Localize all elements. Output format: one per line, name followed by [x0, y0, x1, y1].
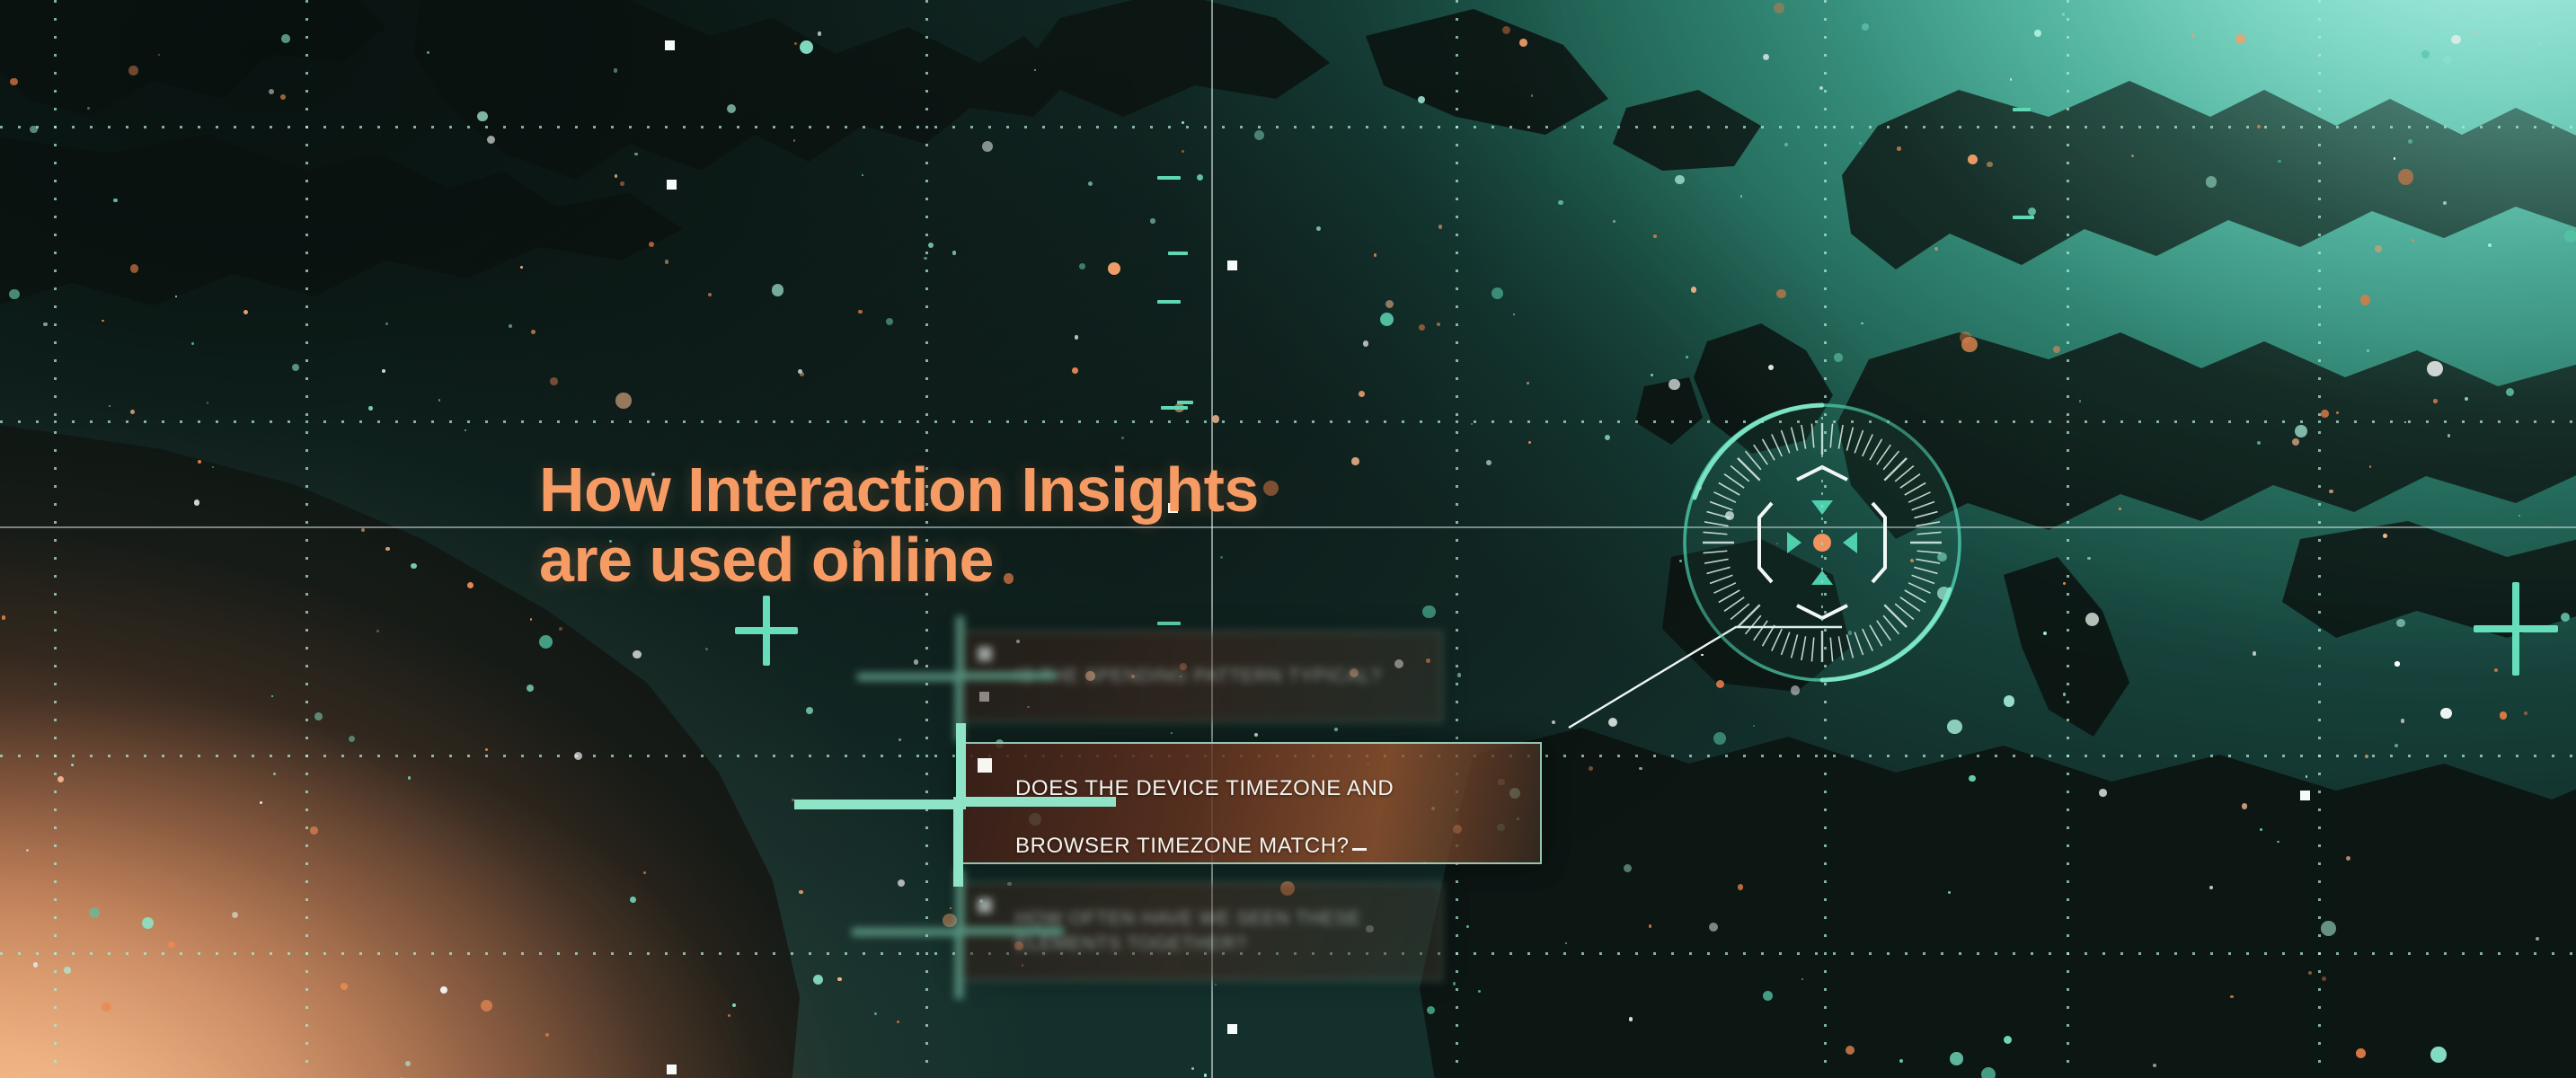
scatter-dot	[1819, 86, 1823, 90]
scatter-dot	[30, 126, 37, 133]
grid-node-square	[667, 180, 677, 190]
scatter-dot	[2408, 139, 2412, 144]
scatter-dot	[2063, 582, 2065, 584]
scatter-dot	[1784, 143, 1788, 146]
scatter-dot	[273, 773, 276, 775]
scatter-dot	[886, 318, 893, 325]
scatter-dot	[1191, 1067, 1194, 1070]
scatter-dot	[1552, 720, 1555, 724]
grid-node-square	[665, 40, 675, 50]
scatter-dot	[2278, 160, 2281, 163]
scatter-dot	[2396, 619, 2405, 628]
scatter-dot	[1653, 234, 1657, 238]
scatter-dot	[1987, 162, 1993, 168]
scatter-dot	[102, 1003, 111, 1012]
scatter-dot	[943, 914, 956, 927]
scatter-dot	[408, 776, 411, 779]
scatter-dot	[1675, 175, 1684, 184]
grid-node-square	[1227, 261, 1237, 270]
scatter-dot	[1709, 923, 1718, 932]
scatter-dot	[87, 107, 90, 110]
crosshair-marker-left	[735, 596, 798, 666]
grid-tick-dash	[2013, 216, 2034, 219]
scatter-dot	[1385, 300, 1394, 308]
scatter-dot	[520, 266, 523, 269]
scatter-dot	[1171, 732, 1173, 734]
scatter-dot	[1531, 94, 1534, 97]
scatter-dot	[1774, 3, 1784, 13]
scatter-dot	[1513, 314, 1516, 316]
scatter-dot	[1968, 155, 1978, 164]
scatter-dot	[1580, 125, 1582, 127]
scatter-dot	[477, 111, 488, 122]
grid-tick-dash	[1168, 252, 1188, 255]
scatter-dot	[615, 393, 632, 409]
scatter-dot	[2375, 245, 2382, 252]
scatter-dot	[2443, 201, 2447, 205]
scatter-dot	[1608, 718, 1617, 727]
scatter-dot	[2010, 78, 2013, 81]
radar-scope[interactable]	[1669, 390, 1975, 695]
scatter-dot	[874, 1012, 877, 1015]
scatter-dot	[2191, 34, 2194, 37]
scatter-dot	[1899, 1059, 1903, 1063]
scatter-dot	[1380, 313, 1394, 326]
scatter-dot	[727, 104, 736, 113]
scatter-dot	[440, 986, 447, 994]
scatter-dot	[1649, 924, 1652, 928]
scatter-dot	[2412, 239, 2414, 242]
scatter-dot	[1427, 1006, 1436, 1015]
page-title: How Interaction Insights are used online	[539, 455, 1259, 596]
scatter-dot	[858, 310, 862, 314]
scatter-dot	[2329, 490, 2333, 494]
scatter-dot	[2443, 56, 2452, 65]
scatter-dot	[2306, 775, 2307, 777]
scatter-dot	[194, 499, 199, 505]
scatter-dot	[630, 897, 636, 903]
scatter-dot	[2277, 841, 2279, 844]
scatter-dot	[708, 293, 712, 296]
scatter-dot	[314, 712, 323, 720]
scatter-dot	[9, 289, 19, 299]
scatter-dot	[2079, 400, 2082, 402]
scatter-dot	[487, 136, 495, 144]
scatter-dot	[1801, 978, 1804, 981]
scatter-dot	[2260, 828, 2263, 832]
scatter-dot	[800, 40, 813, 54]
scatter-dot	[1457, 673, 1462, 677]
scatter-dot	[2206, 176, 2217, 188]
scatter-dot	[794, 42, 797, 45]
scatter-dot	[310, 826, 318, 835]
scatter-dot	[1351, 457, 1359, 465]
scatter-dot	[772, 284, 784, 296]
scatter-dot	[545, 1033, 549, 1037]
scatter-dot	[405, 1061, 411, 1066]
scatter-dot	[2292, 438, 2300, 446]
scatter-dot	[109, 405, 111, 407]
scatter-dot	[2421, 50, 2430, 59]
scatter-dot	[732, 1003, 736, 1007]
scatter-dot	[2034, 30, 2041, 37]
scatter-dot	[2524, 711, 2527, 715]
scatter-dot	[1108, 262, 1120, 275]
scatter-dot	[818, 31, 822, 36]
scatter-dot	[1486, 460, 1492, 465]
scatter-dot	[898, 879, 905, 887]
scatter-dot	[281, 34, 290, 43]
card-question-line2: BROWSER TIMEZONE MATCH?	[1015, 834, 1350, 858]
grid-node-square	[2300, 791, 2310, 800]
scatter-dot	[2308, 971, 2312, 975]
scatter-dot	[634, 153, 637, 155]
scatter-dot	[2004, 695, 2015, 707]
scatter-dot	[1981, 1067, 1996, 1078]
scatter-dot	[1947, 720, 1962, 735]
scatter-dot	[539, 635, 553, 649]
scatter-dot	[1558, 200, 1563, 206]
scatter-dot	[614, 68, 617, 72]
scatter-dot	[2394, 157, 2396, 160]
scatter-dot	[1763, 991, 1773, 1001]
scatter-dot	[950, 907, 952, 909]
scatter-dot	[1776, 289, 1785, 298]
scatter-dot	[1150, 218, 1155, 224]
scatter-dot	[10, 78, 18, 86]
scatter-dot	[1453, 982, 1456, 985]
scatter-dot	[1418, 96, 1425, 103]
scatter-dot	[212, 466, 214, 468]
scatter-dot	[271, 695, 273, 697]
scatter-dot	[1738, 884, 1744, 890]
grid-tick-dash	[1157, 622, 1181, 625]
scatter-dot	[168, 941, 174, 948]
scatter-dot	[2440, 708, 2452, 720]
scatter-dot	[665, 260, 669, 264]
scatter-dot	[837, 977, 841, 981]
scatter-dot	[1639, 767, 1642, 771]
grid-tick-dash	[1157, 176, 1181, 180]
scatter-dot	[130, 410, 135, 414]
scatter-dot	[1363, 340, 1369, 347]
scatter-dot	[705, 648, 708, 650]
scatter-dot	[1088, 181, 1093, 186]
scatter-dot	[1763, 54, 1769, 60]
scatter-dot	[243, 310, 248, 314]
scatter-dot	[191, 342, 193, 344]
scatter-dot	[2209, 886, 2213, 889]
grid-tick-dash	[1157, 300, 1181, 304]
scatter-dot	[1437, 323, 1440, 326]
scatter-dot	[2356, 1048, 2366, 1058]
scatter-dot	[620, 181, 624, 185]
scatter-dot	[2063, 693, 2067, 696]
scatter-dot	[1934, 247, 1938, 251]
scatter-dot	[559, 627, 562, 631]
scatter-dot	[1466, 925, 1469, 928]
scatter-dot	[574, 752, 583, 761]
scatter-dot	[438, 399, 441, 402]
scatter-dot	[411, 563, 416, 569]
scatter-dot	[2043, 632, 2047, 635]
scatter-dot	[1419, 324, 1425, 331]
scatter-dot	[2430, 1047, 2447, 1063]
scatter-dot	[2028, 208, 2036, 216]
scatter-dot	[1713, 732, 1726, 745]
scatter-dot	[481, 1000, 493, 1012]
scatter-dot	[2518, 515, 2521, 517]
scatter-dot	[1624, 864, 1632, 872]
scatter-dot	[1834, 353, 1843, 362]
scatter-dot	[1768, 365, 1775, 371]
scatter-dot	[2395, 661, 2400, 667]
scatter-dot	[2268, 44, 2271, 47]
scatter-dot	[1471, 423, 1473, 425]
scatter-dot	[509, 324, 512, 328]
scatter-dot	[1629, 1017, 1633, 1021]
scatter-dot	[1502, 26, 1510, 34]
scatter-dot	[467, 582, 474, 588]
scatter-dot	[280, 94, 286, 100]
scatter-dot	[1528, 441, 1531, 444]
scatter-dot	[142, 917, 154, 929]
scatter-dot	[485, 748, 488, 751]
scatter-dot	[1212, 415, 1220, 423]
scatter-dot	[1478, 990, 1481, 993]
scatter-dot	[2336, 411, 2339, 414]
scatter-dot	[2053, 346, 2060, 353]
scatter-dot	[2404, 421, 2406, 423]
scatter-dot	[633, 650, 642, 659]
crosshair-marker-right	[2474, 582, 2558, 676]
scatter-dot	[2253, 651, 2256, 655]
scatter-dot	[1254, 130, 1264, 140]
scatter-dot	[2564, 230, 2576, 243]
scatter-dot	[292, 364, 299, 371]
scatter-dot	[2230, 995, 2234, 999]
scatter-dot	[2488, 243, 2492, 247]
scatter-dot	[2321, 410, 2329, 418]
scatter-dot	[1565, 942, 1567, 944]
scatter-dot	[260, 801, 263, 805]
grid-tick-dash	[2013, 108, 2031, 111]
card-status-square	[978, 758, 992, 773]
scatter-dot	[806, 707, 814, 715]
scatter-dot	[1075, 335, 1078, 339]
scatter-dot	[2099, 789, 2107, 797]
scatter-dot	[2383, 534, 2387, 538]
grid-node-square	[1227, 1024, 1237, 1034]
scatter-dot	[1263, 481, 1279, 496]
scatter-dot	[2004, 1036, 2013, 1045]
scatter-dot	[1861, 323, 1863, 324]
scatter-dot	[2401, 719, 2405, 723]
scatter-dot	[1897, 146, 1901, 151]
scatter-dot	[2427, 361, 2443, 377]
scatter-dot	[1753, 725, 1756, 728]
scatter-dot	[1121, 437, 1124, 439]
scatter-dot	[1316, 226, 1321, 231]
question-card-spending-pattern[interactable]: IS THE SPENDING PATTERN TYPICAL?	[958, 631, 1443, 722]
scatter-dot	[385, 547, 390, 552]
scatter-dot	[2451, 35, 2461, 45]
scatter-dot	[2367, 349, 2369, 352]
scatter-dot	[2119, 508, 2121, 510]
scatter-dot	[427, 51, 429, 54]
scatter-dot	[914, 659, 919, 665]
scatter-dot	[615, 174, 617, 177]
scatter-dot	[530, 618, 533, 621]
scatter-dot	[232, 912, 238, 918]
scatter-dot	[1422, 605, 1436, 619]
scatter-dot	[207, 402, 209, 404]
scatter-dot	[1182, 150, 1185, 154]
scatter-dot	[128, 66, 138, 75]
scatter-dot	[1969, 775, 1976, 782]
scatter-dot	[862, 174, 863, 176]
scatter-dot	[130, 264, 139, 273]
scatter-dot	[1589, 766, 1593, 771]
scatter-dot	[1182, 121, 1184, 124]
grid-node-square	[667, 1065, 677, 1074]
scatter-dot	[1359, 391, 1365, 397]
grid-tick-dash	[1161, 406, 1188, 410]
scatter-dot	[793, 139, 795, 141]
scatter-dot	[2346, 856, 2350, 861]
scatter-dot	[113, 199, 118, 203]
scatter-dot	[649, 242, 655, 248]
scatter-dot	[1948, 891, 1952, 895]
hero-scene: IS THE SPENDING PATTERN TYPICAL? DOES TH…	[0, 0, 2576, 1078]
scatter-dot	[465, 429, 466, 431]
scatter-dot	[2242, 803, 2247, 808]
scatter-dot	[1651, 374, 1653, 376]
scatter-dot	[2153, 1064, 2157, 1068]
scatter-dot	[1438, 225, 1443, 229]
scatter-dot	[341, 983, 348, 990]
question-card-elements-together[interactable]: HOW OFTEN HAVE WE SEEN THESE ELEMENTS TO…	[958, 882, 1443, 981]
scatter-dot	[1846, 1046, 1855, 1055]
scatter-dot	[1204, 1074, 1207, 1076]
scatter-dot	[43, 323, 48, 327]
scatter-dot	[2506, 388, 2515, 397]
scatter-dot	[550, 377, 558, 385]
scatter-dot	[1215, 984, 1217, 985]
scatter-dot	[1527, 382, 1529, 384]
scatter-dot	[2395, 744, 2398, 747]
scatter-dot	[2360, 295, 2371, 305]
scatter-dot	[2295, 425, 2307, 437]
scatter-dot	[1686, 356, 1688, 358]
scatter-dot	[897, 1021, 899, 1023]
scatter-dot	[1072, 367, 1078, 374]
scatter-dot	[1334, 728, 1338, 731]
scatter-dot	[2465, 397, 2468, 401]
scatter-dot	[1034, 69, 1037, 72]
scatter-dot	[64, 967, 71, 974]
scatter-dot	[899, 738, 901, 741]
scatter-dot	[2131, 155, 2135, 158]
scatter-dot	[1374, 253, 1377, 257]
scatter-dot	[799, 890, 803, 895]
scatter-dot	[1519, 39, 1527, 47]
scatter-dot	[2398, 169, 2413, 184]
scatter-dot	[1254, 733, 1258, 737]
scatter-dot	[1862, 23, 1868, 30]
scatter-dot	[368, 406, 373, 411]
scatter-dot	[26, 849, 29, 852]
grid-tick-dash	[1177, 401, 1193, 404]
scatter-dot	[71, 764, 74, 766]
scatter-dot	[800, 372, 804, 376]
scatter-dot	[102, 320, 104, 323]
scatter-dot	[643, 871, 646, 874]
scatter-dot	[2545, 107, 2547, 110]
scatter-dot	[89, 907, 100, 918]
scatter-dot	[527, 685, 534, 692]
scatter-dot	[2433, 399, 2438, 403]
scatter-dot	[2561, 613, 2570, 622]
scatter-dot	[2235, 34, 2245, 44]
card-status-square	[978, 898, 992, 913]
scatter-dot	[2062, 13, 2066, 16]
scatter-dot	[2365, 755, 2368, 758]
scatter-dot	[1859, 142, 1862, 145]
scatter-dot	[728, 1014, 731, 1018]
scatter-dot	[1950, 1052, 1963, 1065]
scatter-dot	[385, 323, 389, 326]
scatter-dot	[2087, 557, 2090, 560]
question-card-timezone-match[interactable]: DOES THE DEVICE TIMEZONE AND BROWSER TIM…	[958, 742, 1542, 864]
scatter-dot	[1740, 195, 1742, 197]
scatter-dot	[175, 296, 177, 297]
scatter-dot	[2369, 465, 2372, 468]
scatter-dot	[349, 736, 355, 742]
scatter-dot	[58, 776, 64, 782]
scatter-dot	[1197, 174, 1203, 181]
scatter-dot	[1669, 379, 1680, 391]
scatter-dot	[2321, 921, 2336, 936]
scatter-dot	[1492, 287, 1503, 299]
scatter-dot	[952, 251, 956, 254]
scatter-dot	[928, 243, 934, 248]
scatter-dot	[2085, 613, 2099, 626]
scatter-dot	[361, 528, 365, 532]
scatter-dot	[376, 630, 379, 632]
scatter-dot	[2322, 976, 2326, 981]
scatter-dot	[2257, 125, 2261, 128]
text-cursor	[1352, 848, 1367, 851]
scatter-dot	[2448, 434, 2451, 437]
scatter-dot	[158, 54, 160, 56]
scatter-dot	[2500, 711, 2508, 720]
scatter-dot	[1605, 435, 1610, 440]
scatter-dot	[2536, 937, 2539, 941]
scatter-dot	[813, 975, 823, 985]
scatter-dot	[269, 89, 274, 94]
scatter-dot	[924, 257, 927, 261]
scatter-dot	[1079, 263, 1085, 269]
scatter-dot	[1613, 220, 1616, 223]
scatter-dot	[2538, 42, 2542, 46]
scatter-dot	[382, 369, 385, 373]
card-status-square	[978, 647, 992, 661]
scatter-dot	[2474, 31, 2476, 33]
scatter-dot	[982, 141, 993, 152]
scatter-dot	[1691, 287, 1697, 293]
scatter-dot	[2257, 441, 2261, 445]
